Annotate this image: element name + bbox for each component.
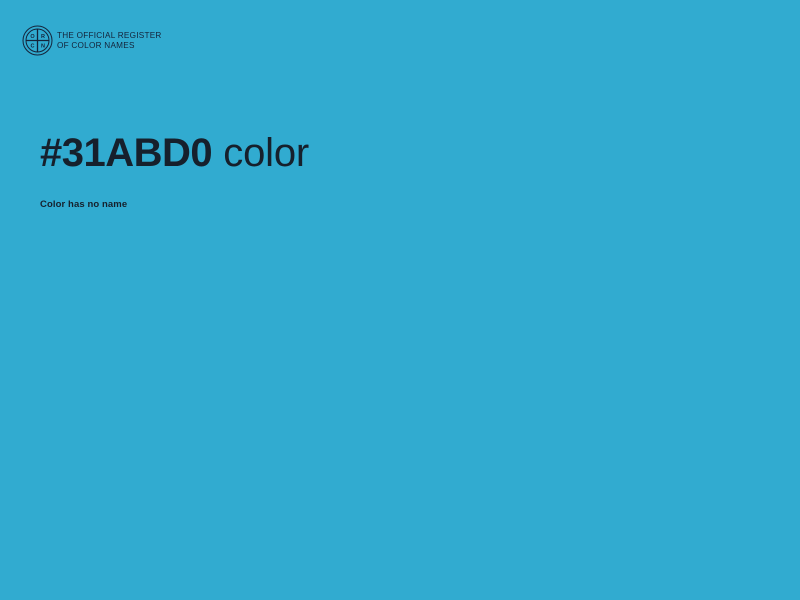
brand-title: THE OFFICIAL REGISTER OF COLOR NAMES [57, 30, 162, 50]
brand-lockup[interactable]: O R C N · · · · THE OFFICIAL REGISTER OF… [22, 25, 162, 56]
svg-text:R: R [41, 34, 45, 40]
color-name-status: Color has no name [40, 199, 127, 210]
brand-title-line-2: OF COLOR NAMES [57, 41, 162, 51]
color-hex-suffix: color [223, 131, 309, 175]
color-hex-value: #31ABD0 [40, 131, 212, 175]
svg-text:N: N [41, 44, 45, 50]
brand-title-line-1: THE OFFICIAL REGISTER [57, 31, 162, 41]
color-page: O R C N · · · · THE OFFICIAL REGISTER OF… [0, 0, 800, 600]
color-swatch-field [0, 230, 800, 600]
page-title: #31ABD0 color [40, 130, 309, 176]
orcn-seal-icon: O R C N · · · · [22, 25, 53, 56]
svg-text:O: O [30, 34, 35, 40]
svg-text:C: C [31, 44, 35, 50]
svg-text:· · · ·: · · · · [35, 53, 41, 56]
